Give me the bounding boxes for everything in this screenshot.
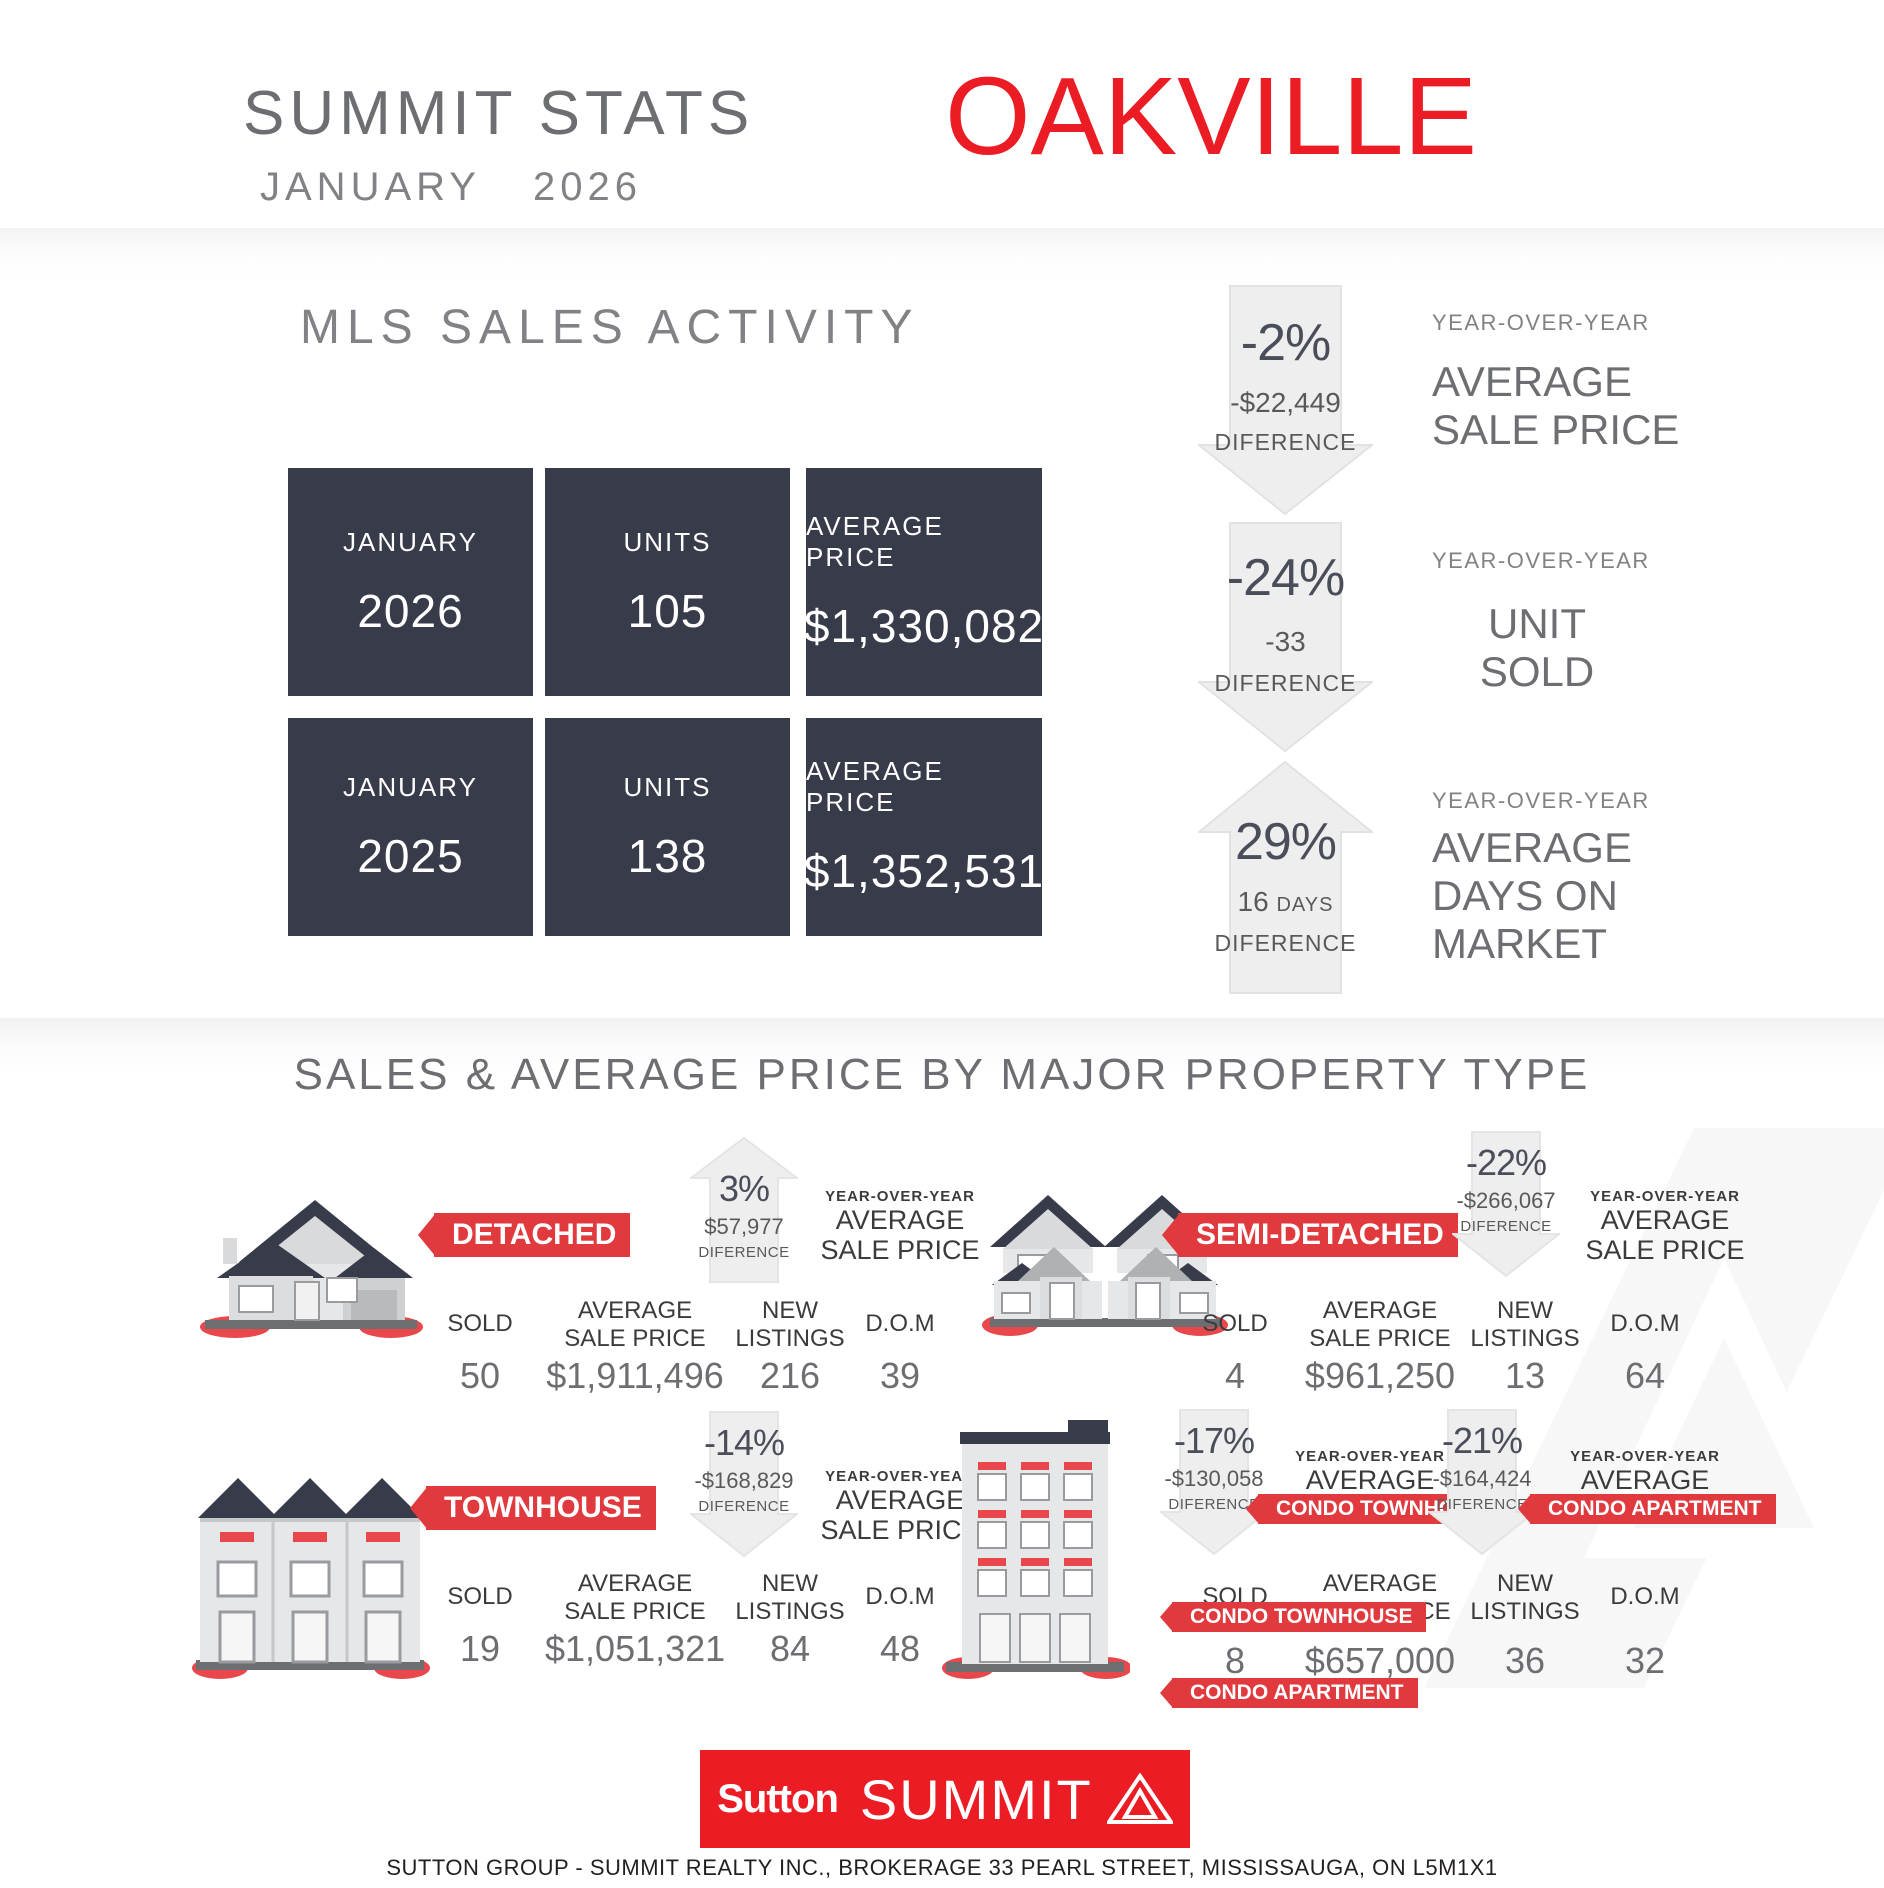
col-header-new-listings: NEWLISTINGS [1450, 1570, 1600, 1626]
yoy-small-label: YEAR-OVER-YEAR [1432, 310, 1679, 336]
stat-label: AVERAGE PRICE [806, 511, 1042, 573]
yoy-arrow-average-sale-price: -2% -$22,449 DIFERENCE [1198, 285, 1373, 515]
value-sold: 8 [1180, 1640, 1290, 1682]
stat-box-price-2026: AVERAGE PRICE $1,330,082 [806, 468, 1042, 696]
yoy-percent: -14% [690, 1422, 798, 1464]
yoy-percent: -22% [1452, 1142, 1560, 1184]
yoy-difference-value: -33 [1198, 626, 1373, 658]
stat-value: 2026 [357, 584, 463, 638]
yoy-arrow-days-on-market: 29% 16 DAYS DIFERENCE [1198, 760, 1373, 995]
yoy-arrow-semi-detached: -22% -$266,067 DIFERENCE [1452, 1130, 1560, 1278]
city-name: OAKVILLE [945, 62, 1477, 172]
townhouse-icon [190, 1470, 430, 1685]
col-header-avg-price: AVERAGESALE PRICE [545, 1297, 725, 1353]
tag-notch-icon [418, 1213, 436, 1257]
value-dom: 64 [1580, 1355, 1710, 1397]
yoy-percent: -21% [1428, 1420, 1536, 1462]
value-avg-price: $961,250 [1290, 1355, 1470, 1397]
stat-box-units-2025: UNITS 138 [545, 718, 790, 936]
stat-value: 105 [628, 584, 708, 638]
sutton-summit-logo: Sutton SUMMIT [700, 1750, 1190, 1848]
property-tag-detached: DETACHED [434, 1213, 630, 1257]
stat-label: JANUARY [343, 527, 478, 558]
yoy-big-line2: SOLD [1432, 648, 1642, 696]
yoy-big-line1: AVERAGE [1432, 824, 1650, 872]
col-header-dom: D.O.M [1580, 1310, 1710, 1338]
property-tag-townhouse: TOWNHOUSE [426, 1486, 656, 1530]
value-sold: 4 [1180, 1355, 1290, 1397]
yoy-difference-value: -$168,829 [690, 1468, 798, 1494]
stat-label: UNITS [624, 527, 712, 558]
yoy-arrow-condo-townhouse: -17% -$130,058 DIFERENCE [1160, 1408, 1268, 1556]
yoy-difference-value: 16 DAYS [1198, 886, 1373, 918]
yoy-difference-value: -$266,067 [1452, 1188, 1560, 1214]
property-tag-semi-detached: SEMI-DETACHED [1178, 1213, 1458, 1257]
stat-value: $1,330,082 [804, 599, 1044, 653]
value-avg-price: $1,051,321 [545, 1628, 725, 1670]
yoy-percent: -2% [1198, 313, 1373, 373]
tag-notch-icon [1160, 1678, 1173, 1708]
report-month: JANUARY [260, 165, 481, 209]
stat-label: AVERAGE PRICE [806, 756, 1042, 818]
yoy-difference-label: DIFERENCE [1198, 670, 1373, 697]
tag-notch-icon [1160, 1602, 1173, 1632]
value-sold: 19 [425, 1628, 535, 1670]
footer-address: SUTTON GROUP - SUMMIT REALTY INC., BROKE… [0, 1855, 1884, 1881]
report-year: 2026 [533, 165, 642, 209]
stat-box-price-2025: AVERAGE PRICE $1,352,531 [806, 718, 1042, 936]
yoy-difference-value: -$22,449 [1198, 387, 1373, 419]
col-header-sold: SOLD [1180, 1310, 1290, 1338]
yoy-label-detached: YEAR-OVER-YEAR AVERAGE SALE PRICE [805, 1188, 995, 1265]
value-new-listings: 36 [1450, 1640, 1600, 1682]
condo-apartment-icon [940, 1418, 1130, 1688]
yoy-label-semi-detached: YEAR-OVER-YEAR AVERAGE SALE PRICE [1570, 1188, 1760, 1265]
yoy-difference-label: DIFERENCE [690, 1498, 798, 1515]
value-dom: 32 [1580, 1640, 1710, 1682]
stat-value: $1,352,531 [804, 844, 1044, 898]
infographic-page: SUMMIT STATS JANUARY2026 OAKVILLE MLS SA… [0, 0, 1884, 1888]
yoy-big-line2: DAYS ON [1432, 872, 1650, 920]
mls-section-title: MLS SALES ACTIVITY [300, 300, 920, 355]
yoy-difference-label: DIFERENCE [1198, 429, 1373, 456]
yoy-percent: 3% [690, 1168, 798, 1210]
tag-notch-icon [1162, 1213, 1180, 1257]
yoy-percent: 29% [1198, 812, 1373, 872]
stat-box-month-2025: JANUARY 2025 [288, 718, 533, 936]
col-header-new-listings: NEWLISTINGS [1450, 1297, 1600, 1353]
yoy-arrow-unit-sold: -24% -33 DIFERENCE [1198, 522, 1373, 752]
col-header-sold: SOLD [425, 1583, 535, 1611]
property-tag-condo-apartment-row: CONDO APARTMENT [1172, 1678, 1418, 1708]
stat-value: 138 [628, 829, 708, 883]
yoy-difference-value: $57,977 [690, 1214, 798, 1240]
col-header-avg-price: AVERAGESALE PRICE [545, 1570, 725, 1626]
yoy-big-line3: MARKET [1432, 920, 1650, 968]
logo-sutton-text: Sutton [717, 1777, 838, 1822]
col-header-dom: D.O.M [1580, 1583, 1710, 1611]
yoy-small-label: YEAR-OVER-YEAR [1432, 548, 1650, 574]
tag-notch-icon [1246, 1494, 1259, 1524]
stat-box-month-2026: JANUARY 2026 [288, 468, 533, 696]
stat-label: UNITS [624, 772, 712, 803]
yoy-label-unit-sold: YEAR-OVER-YEAR UNIT SOLD [1432, 548, 1650, 696]
col-header-dom: D.O.M [835, 1310, 965, 1338]
col-header-avg-price: AVERAGESALE PRICE [1290, 1297, 1470, 1353]
summit-triangle-icon [1107, 1773, 1173, 1825]
value-avg-price: $657,000 [1290, 1640, 1470, 1682]
value-sold: 50 [425, 1355, 535, 1397]
yoy-big-line1: AVERAGE [1432, 358, 1679, 406]
yoy-difference-label: DIFERENCE [1198, 930, 1373, 957]
header: SUMMIT STATS JANUARY2026 OAKVILLE [0, 0, 1884, 228]
property-tag-condo-apartment-top: CONDO APARTMENT [1530, 1494, 1776, 1524]
col-header-sold: SOLD [425, 1310, 535, 1338]
stat-box-units-2026: UNITS 105 [545, 468, 790, 696]
yoy-percent: -24% [1198, 548, 1373, 608]
yoy-difference-label: DIFERENCE [1452, 1218, 1560, 1235]
stat-value: 2025 [357, 829, 463, 883]
yoy-label-days-on-market: YEAR-OVER-YEAR AVERAGE DAYS ON MARKET [1432, 788, 1650, 968]
stat-label: JANUARY [343, 772, 478, 803]
tag-notch-icon [1518, 1494, 1531, 1524]
value-dom: 39 [835, 1355, 965, 1397]
detached-house-icon [195, 1190, 425, 1340]
logo-summit-text: SUMMIT [860, 1767, 1093, 1832]
property-section-title: SALES & AVERAGE PRICE BY MAJOR PROPERTY … [0, 1050, 1884, 1100]
yoy-difference-value: -$130,058 [1160, 1466, 1268, 1492]
page-title: SUMMIT STATS [243, 78, 754, 149]
yoy-difference-value: -$164,424 [1428, 1466, 1536, 1492]
value-avg-price: $1,911,496 [545, 1355, 725, 1397]
yoy-difference-label: DIFERENCE [690, 1244, 798, 1261]
yoy-arrow-townhouse: -14% -$168,829 DIFERENCE [690, 1410, 798, 1558]
property-tag-condo-townhouse-row: CONDO TOWNHOUSE [1172, 1602, 1426, 1632]
yoy-arrow-detached: 3% $57,977 DIFERENCE [690, 1136, 798, 1284]
report-period: JANUARY2026 [260, 165, 642, 210]
value-new-listings: 13 [1450, 1355, 1600, 1397]
tag-notch-icon [410, 1486, 428, 1530]
yoy-big-line1: UNIT [1432, 600, 1642, 648]
yoy-label-average-sale-price: YEAR-OVER-YEAR AVERAGE SALE PRICE [1432, 310, 1679, 454]
yoy-arrow-condo-apartment: -21% -$164,424 DIFERENCE [1428, 1408, 1536, 1556]
yoy-big-line2: SALE PRICE [1432, 406, 1679, 454]
yoy-small-label: YEAR-OVER-YEAR [1432, 788, 1650, 814]
yoy-percent: -17% [1160, 1420, 1268, 1462]
